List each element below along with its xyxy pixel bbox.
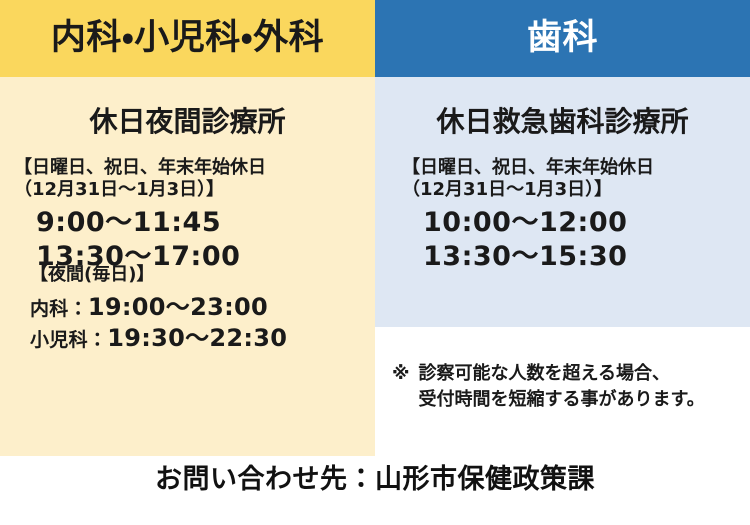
night-row-time: 19:00～23:00 bbox=[88, 293, 268, 321]
night-row-time: 19:30～22:30 bbox=[107, 324, 287, 352]
right-hours-line-1: 10:00～12:00 bbox=[423, 206, 750, 241]
right-header-title: 歯科 bbox=[527, 21, 598, 56]
footer: お問い合わせ先：山形市保健政策課 bbox=[0, 466, 750, 493]
night-hours-title: 【夜間(毎日)】 bbox=[30, 266, 375, 284]
night-hours-section: 【夜間(毎日)】 内科：19:00～23:00 小児科：19:30～22:30 bbox=[0, 266, 375, 353]
right-column-body: 休日救急歯科診療所 【日曜日、祝日、年末年始休日 （12月31日～1月3日）】 … bbox=[375, 108, 750, 275]
left-facility-name: 休日夜間診療所 bbox=[0, 108, 375, 136]
left-header-title: 内科・小児科・外科 bbox=[51, 21, 324, 56]
right-hours-block: 10:00～12:00 13:30～15:30 bbox=[423, 206, 750, 275]
poster-root: 内科・小児科・外科 休日夜間診療所 【日曜日、祝日、年末年始休日 （12月31日… bbox=[0, 0, 750, 525]
right-holiday-note: 【日曜日、祝日、年末年始休日 （12月31日～1月3日）】 bbox=[402, 157, 750, 201]
caution-note-line-2: 受付時間を短縮する事があります。 bbox=[419, 387, 705, 413]
left-column-body: 休日夜間診療所 【日曜日、祝日、年末年始休日 （12月31日～1月3日）】 9:… bbox=[0, 108, 375, 275]
night-hours-rows: 内科：19:00～23:00 小児科：19:30～22:30 bbox=[0, 292, 375, 353]
left-hours-line-1: 9:00～11:45 bbox=[36, 206, 375, 241]
night-hours-row: 内科：19:00～23:00 bbox=[30, 292, 375, 323]
left-holiday-note-line-2: （12月31日～1月3日）】 bbox=[14, 179, 375, 201]
right-holiday-note-line-1: 【日曜日、祝日、年末年始休日 bbox=[402, 157, 750, 179]
left-column-header: 内科・小児科・外科 bbox=[0, 0, 375, 77]
night-hours-row: 小児科：19:30～22:30 bbox=[30, 323, 375, 354]
caution-note: ※ 診察可能な人数を超える場合、 受付時間を短縮する事があります。 bbox=[375, 361, 750, 412]
caution-note-text: 診察可能な人数を超える場合、 受付時間を短縮する事があります。 bbox=[419, 361, 705, 412]
right-hours-line-2: 13:30～15:30 bbox=[423, 240, 750, 275]
right-facility-name: 休日救急歯科診療所 bbox=[375, 108, 750, 136]
right-holiday-note-line-2: （12月31日～1月3日）】 bbox=[402, 179, 750, 201]
left-column: 内科・小児科・外科 休日夜間診療所 【日曜日、祝日、年末年始休日 （12月31日… bbox=[0, 0, 375, 456]
right-column-header: 歯科 bbox=[375, 0, 750, 77]
left-holiday-note: 【日曜日、祝日、年末年始休日 （12月31日～1月3日）】 bbox=[14, 157, 375, 201]
footer-contact-text: お問い合わせ先：山形市保健政策課 bbox=[0, 466, 750, 493]
night-row-department: 内科： bbox=[30, 298, 88, 320]
caution-note-line-1: 診察可能な人数を超える場合、 bbox=[419, 361, 705, 387]
night-row-department: 小児科： bbox=[30, 329, 107, 351]
left-holiday-note-line-1: 【日曜日、祝日、年末年始休日 bbox=[14, 157, 375, 179]
asterisk-icon: ※ bbox=[392, 361, 410, 387]
